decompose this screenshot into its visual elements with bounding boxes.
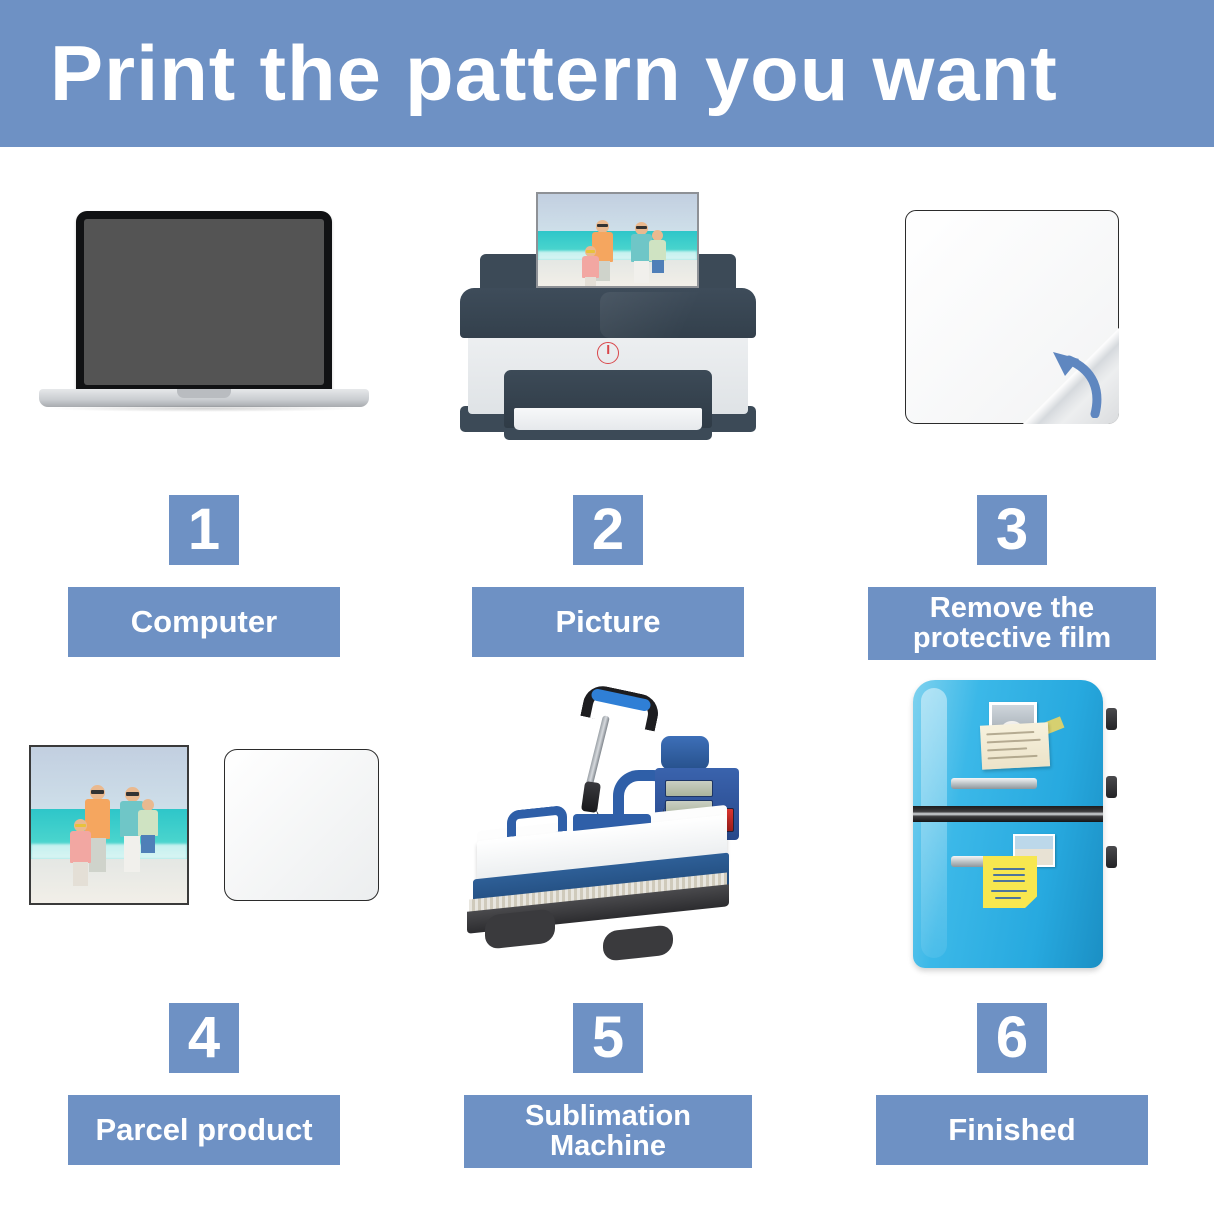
photo-person-toddler <box>648 230 668 278</box>
step-3-illustration <box>810 167 1214 467</box>
power-icon[interactable] <box>597 342 619 364</box>
printer-icon <box>448 192 768 442</box>
printed-photo <box>536 192 699 288</box>
step-label-6: Finished <box>948 1114 1075 1147</box>
fridge-gloss <box>921 688 947 958</box>
magnet-yellow-sticky-note <box>983 856 1037 908</box>
photo-person-toddler <box>137 799 161 865</box>
step-card-5: 5 Sublimation Machine <box>406 675 810 1195</box>
step-number-badge-2: 2 <box>573 495 643 565</box>
step-label-4: Parcel product <box>95 1114 312 1147</box>
step-card-3: 3 Remove the protective film <box>810 167 1214 687</box>
laptop-icon <box>39 211 369 423</box>
printer-top-gloss <box>600 292 750 338</box>
step-label-bar-5: Sublimation Machine <box>464 1095 752 1168</box>
step-1-illustration <box>2 167 406 467</box>
printed-photo-product <box>29 745 189 905</box>
steps-grid: 1 Computer <box>0 147 1214 1214</box>
protective-film-sheet-icon <box>905 210 1119 424</box>
step-card-6: 6 Finished <box>810 675 1214 1195</box>
refrigerator-icon <box>907 680 1117 970</box>
step-card-1: 1 Computer <box>2 167 406 687</box>
temperature-display <box>665 780 713 797</box>
step-number-badge-5: 5 <box>573 1003 643 1073</box>
photo-foam <box>538 251 697 260</box>
press-foot-right <box>603 924 673 961</box>
step-label-3-line2: protective film <box>913 622 1111 654</box>
step-label-bar-2: Picture <box>472 587 744 657</box>
step-label-1: Computer <box>131 606 277 639</box>
step-label-bar-6: Finished <box>876 1095 1148 1165</box>
printer-output-tray <box>514 408 702 430</box>
peel-direction-arrow-icon <box>1035 340 1113 418</box>
printer-top-cover <box>460 288 756 338</box>
step-number-badge-3: 3 <box>977 495 1047 565</box>
step-2-illustration <box>406 167 810 467</box>
blank-sublimation-panel <box>224 749 379 901</box>
step-card-2: 2 Picture <box>406 167 810 687</box>
laptop-notch <box>177 389 231 398</box>
step-number-badge-1: 1 <box>169 495 239 565</box>
magnet-handwritten-note <box>980 722 1050 769</box>
laptop-lid <box>76 211 332 393</box>
step-label-2: Picture <box>555 606 660 639</box>
laptop-screen <box>84 219 324 385</box>
step-label-bar-3: Remove the protective film <box>868 587 1156 660</box>
step-6-illustration <box>810 675 1214 975</box>
fridge-handle-upper[interactable] <box>951 778 1037 789</box>
step-number-badge-4: 4 <box>169 1003 239 1073</box>
step-label-5-line2: Machine <box>550 1130 666 1162</box>
page-title: Print the pattern you want <box>50 28 1058 119</box>
fridge-hinge-middle <box>1106 776 1117 798</box>
laptop-shadow <box>47 405 361 412</box>
step-label-5-line1: Sublimation <box>525 1100 691 1132</box>
press-foot-left <box>485 908 555 949</box>
press-pressure-knob[interactable] <box>661 736 709 770</box>
fridge-hinge-top <box>1106 708 1117 730</box>
photo-sand <box>538 260 697 286</box>
step-number-badge-6: 6 <box>977 1003 1047 1073</box>
step-label-bar-1: Computer <box>68 587 340 657</box>
step-label-bar-4: Parcel product <box>68 1095 340 1165</box>
fridge-hinge-bottom <box>1106 846 1117 868</box>
step-label-3-line1: Remove the <box>930 592 1094 624</box>
photo-and-blank-panel-icon <box>29 745 379 905</box>
photo-person-girl <box>69 819 93 891</box>
photo-person-girl <box>581 246 601 288</box>
fridge-door-divider <box>913 806 1103 822</box>
header-banner: Print the pattern you want <box>0 0 1214 147</box>
step-card-4: 4 Parcel product <box>2 675 406 1195</box>
heat-press-icon <box>463 690 753 960</box>
step-4-illustration <box>2 675 406 975</box>
step-5-illustration <box>406 675 810 975</box>
photo-sky <box>538 194 697 234</box>
